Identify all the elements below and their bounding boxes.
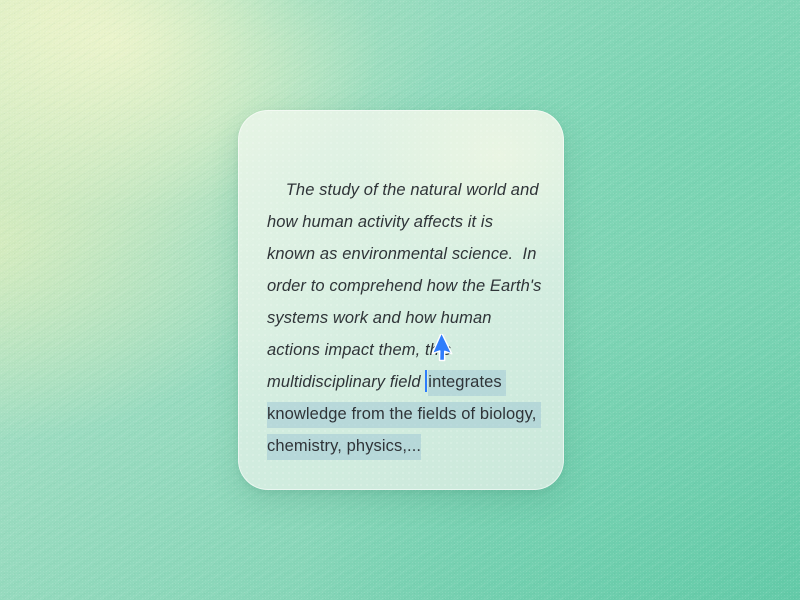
text-caret — [425, 370, 427, 392]
sticky-note-card[interactable]: The study of the natural world and how h… — [238, 110, 564, 490]
note-text-italic-segment: The study of the natural world and how h… — [267, 181, 546, 391]
note-text-body[interactable]: The study of the natural world and how h… — [267, 142, 543, 490]
